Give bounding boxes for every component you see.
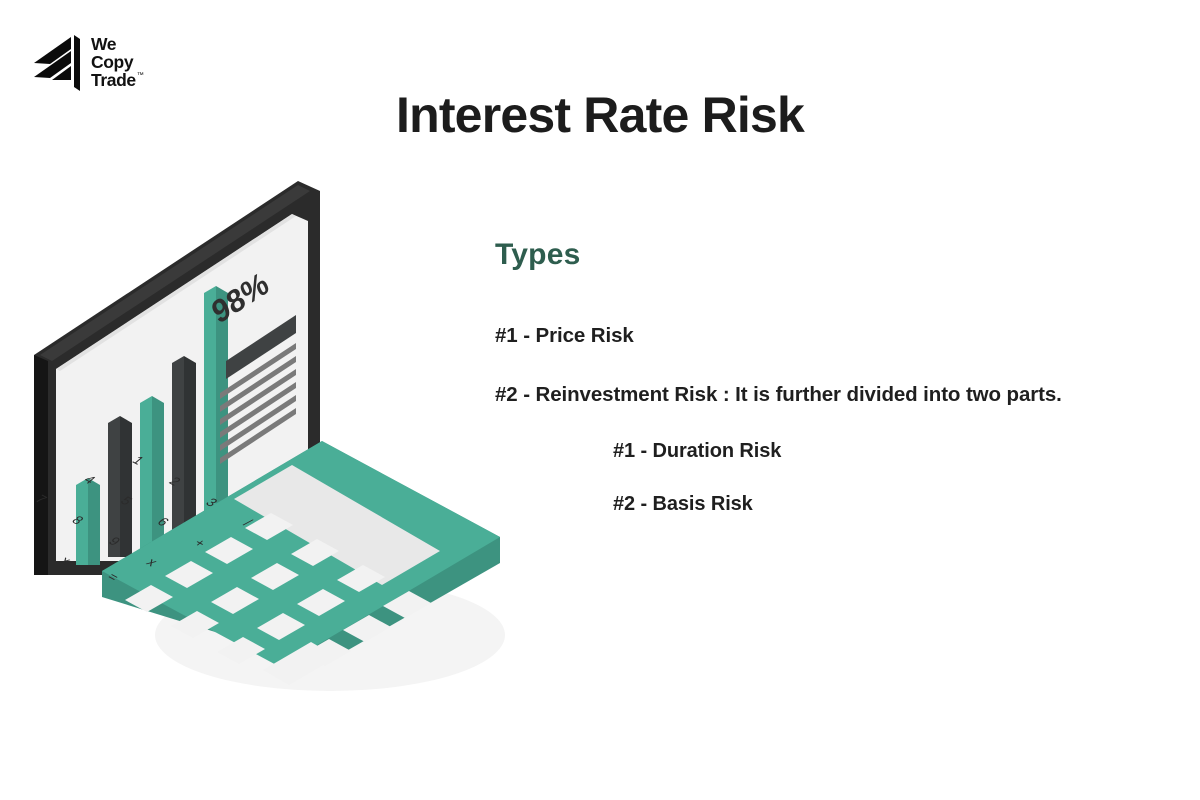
trademark-symbol: ™	[137, 72, 144, 79]
page-title: Interest Rate Risk	[0, 86, 1200, 144]
brand-line-2: Copy	[91, 54, 143, 72]
brand-wordmark: We Copy Trade ™	[91, 33, 143, 90]
types-content: Types #1 - Price Risk #2 - Reinvestment …	[495, 238, 1155, 541]
risk-item-duration-risk: #1 - Duration Risk	[613, 436, 1155, 466]
risk-item-basis-risk: #2 - Basis Risk	[613, 489, 1155, 519]
risk-item-reinvestment-risk: #2 - Reinvestment Risk : It is further d…	[495, 379, 1155, 410]
types-heading: Types	[495, 238, 1155, 272]
risk-item-price-risk: #1 - Price Risk	[495, 320, 1155, 351]
isometric-monitor-and-calculator-illustration: 98%	[30, 165, 530, 705]
